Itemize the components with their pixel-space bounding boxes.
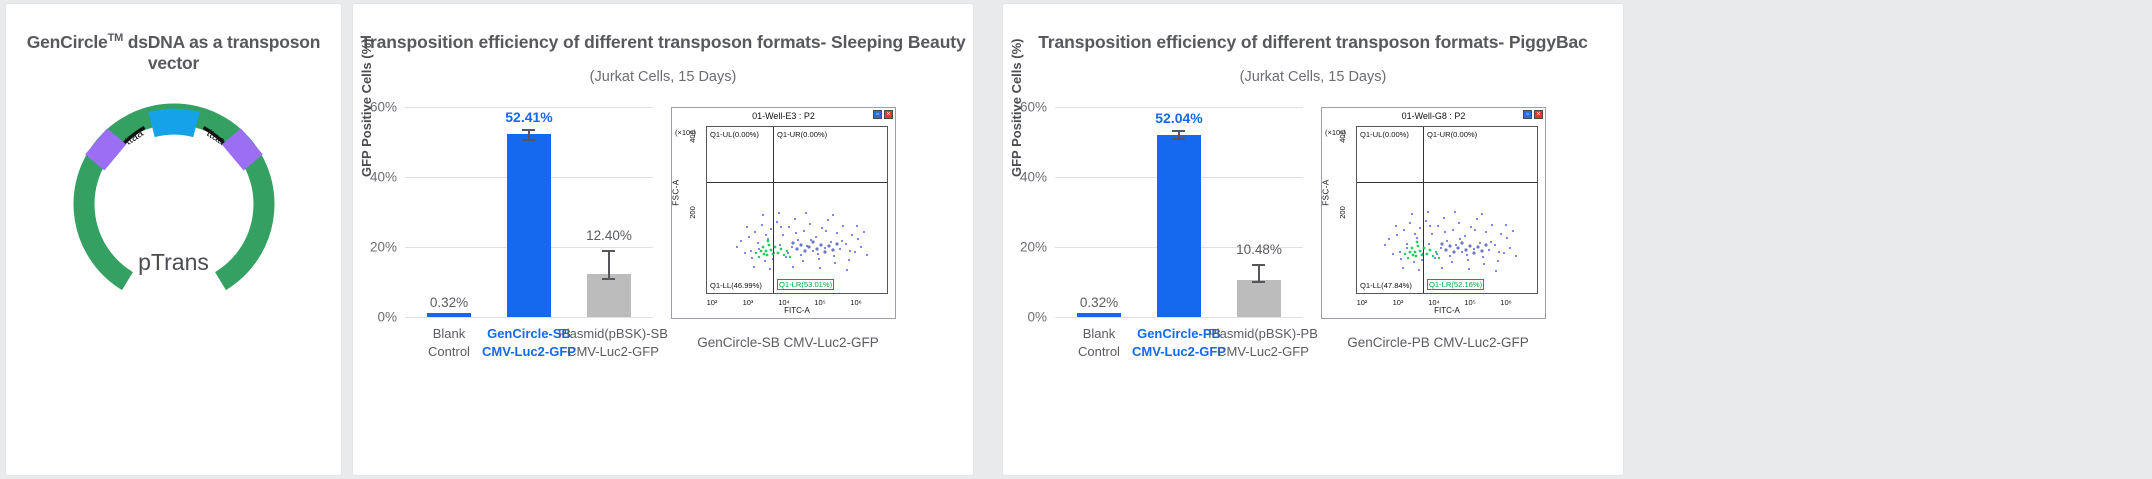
bar-plasmid-pb[interactable] bbox=[1237, 280, 1281, 317]
flow-window-buttons-pb: ▫ × bbox=[1523, 110, 1543, 119]
errorbar-plasmid-sb bbox=[608, 250, 610, 278]
xlab-line-1: Blank bbox=[428, 325, 470, 343]
errorbar-cap-top-gencircle-sb bbox=[522, 129, 535, 131]
plasmid-diagram: ITR ITR ttaa ttaa pTrans bbox=[6, 74, 341, 454]
flow-caption-pb: GenCircle-PB CMV-Luc2-GFP bbox=[1313, 335, 1563, 350]
close-icon[interactable]: × bbox=[884, 110, 893, 119]
flow-window-title-pb: 01-Well-G8 : P2 bbox=[1402, 111, 1466, 121]
flow-caption-sb: GenCircle-SB CMV-Luc2-GFP bbox=[663, 335, 913, 350]
panel-a-title-post: dsDNA as a transposon vector bbox=[123, 32, 320, 73]
bar-label-blank-control-sb: 0.32% bbox=[430, 295, 468, 310]
errorbar-cap-bottom-plasmid-pb bbox=[1252, 281, 1265, 283]
ytick-20-sb: 20% bbox=[370, 240, 397, 255]
errorbar-cap-top-gencircle-pb bbox=[1172, 130, 1185, 132]
xlab-line-1: Plasmid(pBSK)-PB bbox=[1208, 325, 1318, 343]
ytick-20-pb: 20% bbox=[1020, 240, 1047, 255]
x-axis-labels-sb: Blank Control GenCircle-SB CMV-Luc2-GFP … bbox=[405, 325, 653, 371]
ytick-0-pb: 0% bbox=[1027, 310, 1047, 325]
bar-blank-control-sb[interactable] bbox=[427, 313, 471, 317]
ytick-0-sb: 0% bbox=[377, 310, 397, 325]
xlab-blank-control-pb: Blank Control bbox=[1078, 325, 1120, 360]
bar-chart-sb: GFP Positive Cells (%) 60% 40% 20% 0% 0.… bbox=[353, 99, 663, 379]
flow-window-buttons-sb: ▫ × bbox=[873, 110, 893, 119]
flow-plot-area-sb: Q1-UL(0.00%) Q1-UR(0.00%) Q1-LL(46.99%) … bbox=[706, 126, 888, 294]
xlab-line-2: Control bbox=[428, 343, 470, 361]
ytick-60-sb: 60% bbox=[370, 100, 397, 115]
panel-sleeping-beauty: Transposition efficiency of different tr… bbox=[353, 4, 973, 475]
bar-blank-control-pb[interactable] bbox=[1077, 313, 1121, 317]
flow-plot-sb: 01-Well-E3 : P2 ▫ × (×10⁴) FSC-A 400 200… bbox=[663, 99, 913, 379]
errorbar-cap-top-plasmid-pb bbox=[1252, 264, 1265, 266]
panel-piggybac: Transposition efficiency of different tr… bbox=[1003, 4, 1623, 475]
itr-right-label: ITR bbox=[210, 169, 232, 191]
expression-cassette-arc bbox=[152, 122, 197, 125]
xlab-line-2: CMV-Luc2-GFP bbox=[558, 343, 668, 361]
bar-chart-pb: GFP Positive Cells (%) 60% 40% 20% 0% 0.… bbox=[1003, 99, 1313, 379]
flow-ytick-400-pb: 400 bbox=[1338, 130, 1347, 143]
minimize-icon[interactable]: ▫ bbox=[1523, 110, 1532, 119]
flow-window-title-sb: 01-Well-E3 : P2 bbox=[752, 111, 815, 121]
gridline-0-pb bbox=[1055, 317, 1303, 318]
errorbar-cap-top-plasmid-sb bbox=[602, 250, 615, 252]
flow-ytick-200-sb: 200 bbox=[688, 206, 697, 219]
xlab-blank-control-sb: Blank Control bbox=[428, 325, 470, 360]
xlab-line-1: Blank bbox=[1078, 325, 1120, 343]
flow-plot-area-pb: Q1-UL(0.00%) Q1-UR(0.00%) Q1-LL(47.84%) … bbox=[1356, 126, 1538, 294]
bar-gencircle-pb[interactable] bbox=[1157, 135, 1201, 317]
x-axis-labels-pb: Blank Control GenCircle-PB CMV-Luc2-GFP … bbox=[1055, 325, 1303, 371]
bar-label-plasmid-sb: 12.40% bbox=[586, 228, 632, 243]
errorbar-cap-bottom-gencircle-pb bbox=[1172, 138, 1185, 140]
itr-left-label: ITR bbox=[116, 169, 138, 191]
gridline-0-sb bbox=[405, 317, 653, 318]
plot-area-pb: 60% 40% 20% 0% 0.32% 52.04% bbox=[1055, 107, 1303, 317]
gridline-60-pb bbox=[1055, 107, 1303, 108]
close-icon[interactable]: × bbox=[1534, 110, 1543, 119]
flow-y-axis-title-pb: FSC-A bbox=[1322, 179, 1331, 206]
flow-scatter-dots-pb bbox=[1357, 127, 1537, 293]
panel-c-subtitle: (Jurkat Cells, 15 Days) bbox=[1003, 53, 1623, 85]
figure-stage: GenCircleTM dsDNA as a transposon vector bbox=[0, 0, 2152, 479]
trademark-symbol: TM bbox=[108, 32, 123, 44]
flow-x-axis-title-pb: FITC-A bbox=[1356, 306, 1538, 315]
errorbar-cap-bottom-gencircle-sb bbox=[522, 139, 535, 141]
flow-x-axis-title-sb: FITC-A bbox=[706, 306, 888, 315]
panel-c-title: Transposition efficiency of different tr… bbox=[1003, 4, 1623, 53]
plasmid-circle-svg: ITR ITR ttaa ttaa bbox=[68, 102, 280, 314]
errorbar-cap-bottom-plasmid-sb bbox=[602, 278, 615, 280]
panel-a-title-pre: GenCircle bbox=[27, 32, 108, 52]
flow-plot-pb: 01-Well-G8 : P2 ▫ × (×10⁴) FSC-A 400 200… bbox=[1313, 99, 1563, 379]
plot-area-sb: 60% 40% 20% 0% 0.32% 52.41% bbox=[405, 107, 653, 317]
bar-label-gencircle-sb: 52.41% bbox=[505, 109, 552, 125]
xlab-plasmid-pb: Plasmid(pBSK)-PB CMV-Luc2-GFP bbox=[1208, 325, 1318, 360]
flow-y-axis-title-sb: FSC-A bbox=[672, 179, 681, 206]
xlab-line-2: CMV-Luc2-GFP bbox=[1208, 343, 1318, 361]
flow-titlebar-pb: 01-Well-G8 : P2 ▫ × bbox=[1322, 108, 1545, 123]
xlab-line-2: Control bbox=[1078, 343, 1120, 361]
bar-plasmid-sb[interactable] bbox=[587, 274, 631, 317]
plasmid-name-label: pTrans bbox=[6, 249, 341, 276]
flow-window-sb: 01-Well-E3 : P2 ▫ × (×10⁴) FSC-A 400 200… bbox=[671, 107, 896, 319]
ytick-40-pb: 40% bbox=[1020, 170, 1047, 185]
panel-b-subtitle: (Jurkat Cells, 15 Days) bbox=[353, 53, 973, 85]
gridline-60-sb bbox=[405, 107, 653, 108]
bar-label-plasmid-pb: 10.48% bbox=[1236, 242, 1282, 257]
xlab-line-1: Plasmid(pBSK)-SB bbox=[558, 325, 668, 343]
bar-label-blank-control-pb: 0.32% bbox=[1080, 295, 1118, 310]
errorbar-plasmid-pb bbox=[1258, 264, 1260, 281]
panel-b-title: Transposition efficiency of different tr… bbox=[353, 4, 973, 53]
bar-label-gencircle-pb: 52.04% bbox=[1155, 110, 1202, 126]
panel-c-chart-row: GFP Positive Cells (%) 60% 40% 20% 0% 0.… bbox=[1003, 99, 1623, 379]
flow-scatter-dots-sb bbox=[707, 127, 887, 293]
minimize-icon[interactable]: ▫ bbox=[873, 110, 882, 119]
panel-a-title: GenCircleTM dsDNA as a transposon vector bbox=[6, 4, 341, 74]
ytick-40-sb: 40% bbox=[370, 170, 397, 185]
flow-window-pb: 01-Well-G8 : P2 ▫ × (×10⁴) FSC-A 400 200… bbox=[1321, 107, 1546, 319]
flow-titlebar-sb: 01-Well-E3 : P2 ▫ × bbox=[672, 108, 895, 123]
flow-ytick-400-sb: 400 bbox=[688, 130, 697, 143]
panel-plasmid-map: GenCircleTM dsDNA as a transposon vector bbox=[6, 4, 341, 475]
xlab-plasmid-sb: Plasmid(pBSK)-SB CMV-Luc2-GFP bbox=[558, 325, 668, 360]
flow-ytick-200-pb: 200 bbox=[1338, 206, 1347, 219]
panel-b-chart-row: GFP Positive Cells (%) 60% 40% 20% 0% 0.… bbox=[353, 99, 973, 379]
ytick-60-pb: 60% bbox=[1020, 100, 1047, 115]
bar-gencircle-sb[interactable] bbox=[507, 134, 551, 317]
panel-gap bbox=[985, 4, 991, 475]
